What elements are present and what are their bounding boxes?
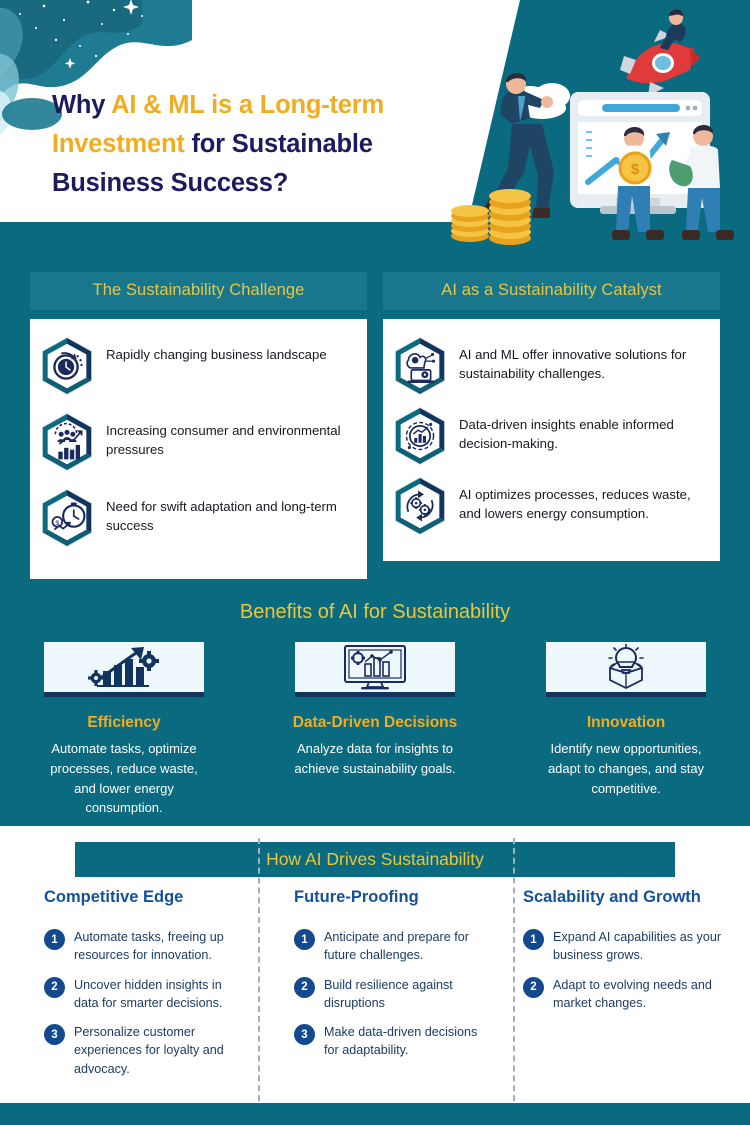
item-number: 2 [523, 977, 544, 998]
svg-text:$: $ [631, 161, 640, 178]
list-item-label: AI and ML offer innovative solutions for… [459, 335, 706, 383]
business-team-illustration: $ [420, 0, 750, 260]
benefit-desc: Identify new opportunities, adapt to cha… [546, 739, 706, 798]
benefit-card-efficiency: Efficiency Automate tasks, optimize proc… [44, 642, 204, 818]
list-item: Data-driven insights enable informed dec… [391, 405, 706, 467]
gears-recycle-icon [391, 475, 449, 537]
item-number: 3 [294, 1024, 315, 1045]
benefit-icon-box [295, 642, 455, 697]
benefit-icon-box [44, 642, 204, 697]
list-item: 1 Anticipate and prepare for future chal… [294, 928, 489, 965]
list-item-label: AI optimizes processes, reduces waste, a… [459, 475, 706, 523]
item-number: 2 [294, 977, 315, 998]
people-bar-chart-icon [38, 411, 96, 473]
benefit-card-data-driven: Data-Driven Decisions Analyze data for i… [286, 642, 464, 818]
list-item: $ Need for swift adaptation and long-ter… [38, 487, 353, 549]
list-item-label: Uncover hidden insights in data for smar… [74, 976, 234, 1013]
item-number: 3 [44, 1024, 65, 1045]
money-stopwatch-icon: $ [38, 487, 96, 549]
how-section: How AI Drives Sustainability Competitive… [0, 826, 750, 1125]
list-item-label: Increasing consumer and environmental pr… [106, 411, 353, 459]
list-item: 3 Make data-driven decisions for adaptab… [294, 1023, 489, 1060]
how-column-title: Scalability and Growth [523, 888, 734, 907]
how-column-scalability-growth: Scalability and Growth 1 Expand AI capab… [505, 888, 750, 1089]
list-item-label: Data-driven insights enable informed dec… [459, 405, 706, 453]
benefit-name: Data-Driven Decisions [286, 714, 464, 732]
benefit-name: Innovation [546, 714, 706, 732]
rocket-icon [620, 9, 700, 96]
list-item-label: Rapidly changing business landscape [106, 335, 327, 364]
list-item: Increasing consumer and environmental pr… [38, 411, 353, 473]
growth-chart-gears-icon [77, 645, 171, 689]
ai-brain-laptop-icon [391, 335, 449, 397]
list-item: 3 Personalize customer experiences for l… [44, 1023, 234, 1078]
list-item-label: Automate tasks, freeing up resources for… [74, 928, 234, 965]
list-item: Rapidly changing business landscape [38, 335, 353, 397]
list-item-label: Need for swift adaptation and long-term … [106, 487, 353, 535]
list-item-label: Expand AI capabilities as your business … [553, 928, 734, 965]
list-item: 1 Automate tasks, freeing up resources f… [44, 928, 234, 965]
benefit-desc: Analyze data for insights to achieve sus… [286, 739, 464, 779]
how-column-title: Future-Proofing [294, 888, 489, 907]
infographic-page: Why AI & ML is a Long-term Investment fo… [0, 0, 750, 1125]
list-item-label: Anticipate and prepare for future challe… [324, 928, 489, 965]
title-line1-b: AI & ML is a Long-term [111, 91, 384, 119]
list-item: AI optimizes processes, reduces waste, a… [391, 475, 706, 537]
item-number: 1 [294, 929, 315, 950]
list-item: 2 Adapt to evolving needs and market cha… [523, 976, 734, 1013]
lightbulb-box-icon [596, 644, 656, 690]
title-line3: Business Success? [52, 169, 288, 197]
how-column-competitive-edge: Competitive Edge 1 Automate tasks, freei… [0, 888, 250, 1089]
challenge-list: Rapidly changing business landscape [30, 319, 367, 579]
benefit-name: Efficiency [44, 714, 204, 732]
title-line1-a: Why [52, 91, 111, 119]
monitor-analytics-icon [339, 644, 411, 690]
how-column-future-proofing: Future-Proofing 1 Anticipate and prepare… [250, 888, 505, 1089]
clock-rotate-icon [38, 335, 96, 397]
two-column-section: The Sustainability Challenge [0, 260, 750, 579]
list-item-label: Make data-driven decisions for adaptabil… [324, 1023, 489, 1060]
challenge-heading: The Sustainability Challenge [30, 272, 367, 310]
list-item-label: Build resilience against disruptions [324, 976, 489, 1013]
title-line2-b: for Sustainable [185, 130, 373, 158]
benefit-card-innovation: Innovation Identify new opportunities, a… [546, 642, 706, 818]
catalyst-list: AI and ML offer innovative solutions for… [383, 319, 720, 561]
benefit-desc: Automate tasks, optimize processes, redu… [44, 739, 204, 818]
benefits-section: Benefits of AI for Sustainability [0, 601, 750, 818]
header-section: Why AI & ML is a Long-term Investment fo… [0, 0, 750, 260]
page-title: Why AI & ML is a Long-term Investment fo… [52, 86, 432, 202]
list-item: 2 Uncover hidden insights in data for sm… [44, 976, 234, 1013]
list-item-label: Personalize customer experiences for loy… [74, 1023, 234, 1078]
footer-bar [0, 1103, 750, 1125]
list-item: 1 Expand AI capabilities as your busines… [523, 928, 734, 965]
item-number: 2 [44, 977, 65, 998]
catalyst-heading: AI as a Sustainability Catalyst [383, 272, 720, 310]
challenge-column: The Sustainability Challenge [30, 272, 367, 579]
how-banner: How AI Drives Sustainability [75, 842, 675, 877]
coin-stacks [451, 189, 531, 245]
title-line2-a: Investment [52, 130, 185, 158]
item-number: 1 [44, 929, 65, 950]
catalyst-column: AI as a Sustainability Catalyst [383, 272, 720, 579]
how-column-title: Competitive Edge [44, 888, 234, 907]
benefits-title: Benefits of AI for Sustainability [0, 601, 750, 642]
item-number: 1 [523, 929, 544, 950]
list-item-label: Adapt to evolving needs and market chang… [553, 976, 734, 1013]
benefit-icon-box [546, 642, 706, 697]
list-item: 2 Build resilience against disruptions [294, 976, 489, 1013]
list-item: AI and ML offer innovative solutions for… [391, 335, 706, 397]
analytics-circle-icon [391, 405, 449, 467]
